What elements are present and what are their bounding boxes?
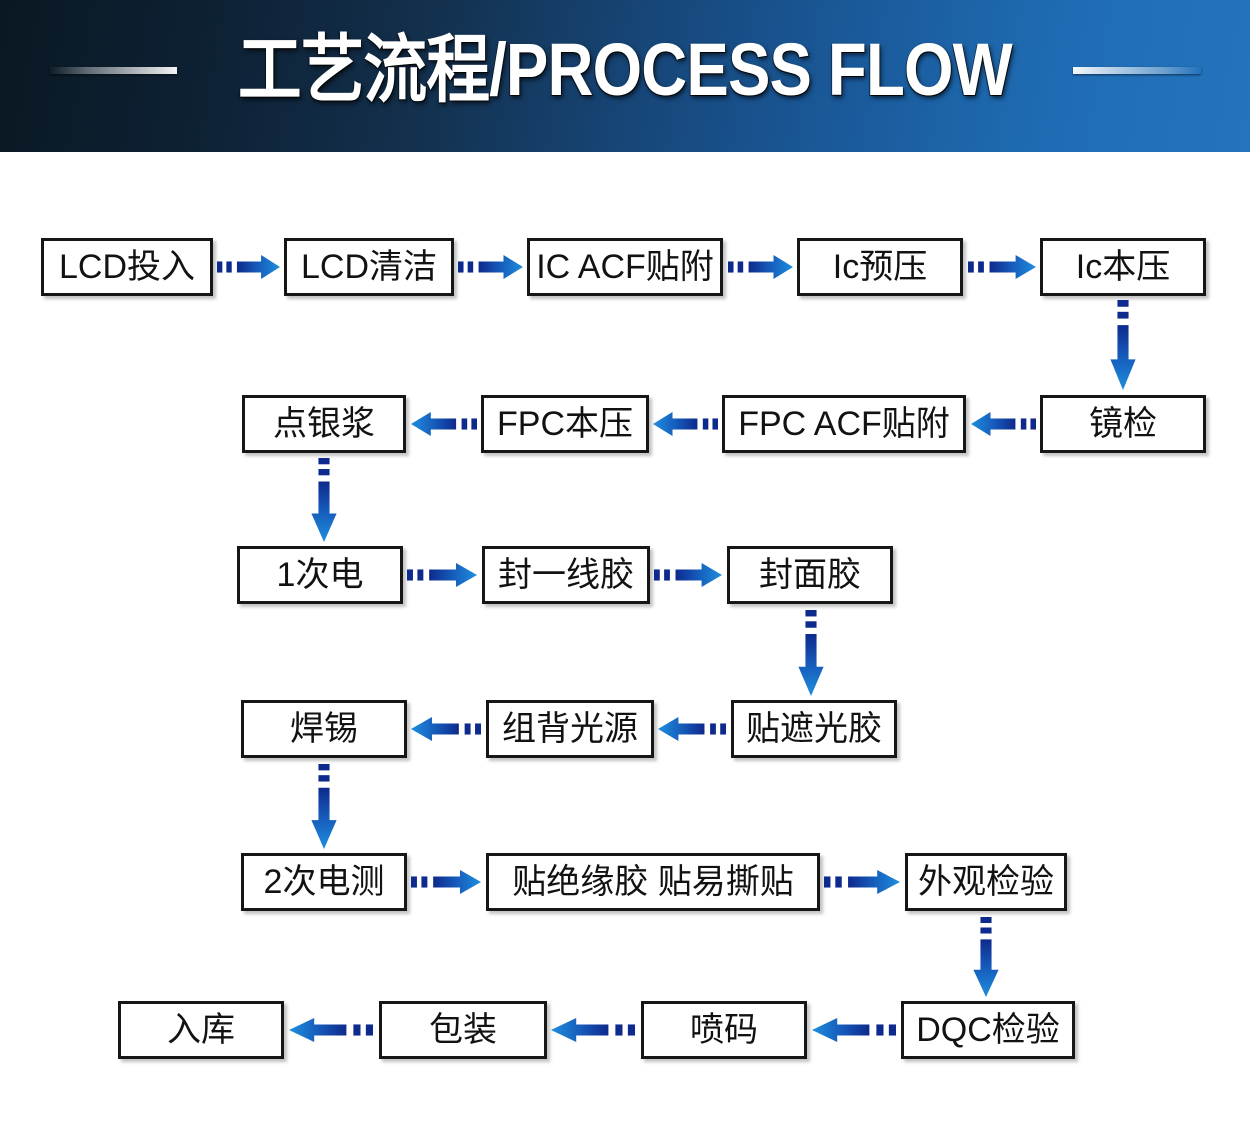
process-node-n2: LCD清洁 (284, 238, 454, 296)
flow-arrow-down-icon (309, 764, 339, 849)
process-node-label: 贴遮光胶 (740, 712, 888, 746)
process-node-label: 入库 (161, 1013, 241, 1047)
process-node-n1: LCD投入 (41, 238, 213, 296)
process-node-n17: 贴绝缘胶 贴易撕贴 (486, 853, 820, 911)
flow-arrow-right-icon (654, 560, 722, 590)
process-node-label: LCD清洁 (295, 250, 443, 284)
process-node-label: 2次电测 (258, 865, 391, 899)
process-node-n8: FPC ACF贴附 (722, 395, 966, 453)
header-inner: 工艺流程/PROCESS FLOW (0, 33, 1250, 107)
flow-arrow-right-icon (458, 252, 523, 282)
decorative-line-left-icon (49, 67, 177, 74)
process-node-label: LCD投入 (53, 250, 201, 284)
process-node-label: 封面胶 (753, 558, 867, 592)
process-node-n22: DQC检验 (901, 1001, 1075, 1059)
flow-arrow-down-icon (796, 610, 826, 696)
process-node-label: 点银浆 (267, 407, 381, 441)
process-node-n21: 喷码 (641, 1001, 807, 1059)
flow-arrow-down-icon (1108, 300, 1138, 390)
flow-arrow-right-icon (728, 252, 793, 282)
process-node-n19: 入库 (118, 1001, 284, 1059)
flow-arrow-right-icon (217, 252, 280, 282)
process-node-n3: IC ACF贴附 (527, 238, 723, 296)
flow-arrow-down-icon (309, 458, 339, 542)
process-node-n11: 封一线胶 (482, 546, 650, 604)
process-node-n20: 包装 (379, 1001, 547, 1059)
flow-arrow-right-icon (407, 560, 477, 590)
process-node-label: FPC本压 (491, 407, 639, 441)
page-title: 工艺流程/PROCESS FLOW (235, 33, 1016, 107)
process-node-label: 镜检 (1083, 407, 1163, 441)
flow-arrow-down-icon (971, 917, 1001, 997)
process-node-n7: FPC本压 (481, 395, 649, 453)
flow-arrow-left-icon (653, 409, 718, 439)
flow-arrow-left-icon (289, 1015, 373, 1045)
process-node-n16: 2次电测 (241, 853, 407, 911)
process-node-label: 焊锡 (284, 712, 364, 746)
header-banner: 工艺流程/PROCESS FLOW (0, 0, 1250, 152)
flow-arrow-left-icon (411, 714, 481, 744)
flow-arrow-right-icon (968, 252, 1036, 282)
process-node-n5: Ic本压 (1040, 238, 1206, 296)
process-node-label: 封一线胶 (492, 558, 640, 592)
flow-arrow-right-icon (411, 867, 481, 897)
process-node-n10: 1次电 (237, 546, 403, 604)
process-node-label: 喷码 (684, 1013, 764, 1047)
process-node-label: Ic预压 (827, 250, 933, 284)
process-node-label: 包装 (423, 1013, 503, 1047)
process-node-label: 贴绝缘胶 贴易撕贴 (506, 865, 799, 899)
process-node-n9: 镜检 (1040, 395, 1206, 453)
process-node-label: DQC检验 (910, 1013, 1066, 1047)
flow-arrow-left-icon (658, 714, 726, 744)
flow-arrow-left-icon (971, 409, 1036, 439)
process-node-n4: Ic预压 (797, 238, 963, 296)
process-node-label: 1次电 (271, 558, 370, 592)
process-node-n15: 贴遮光胶 (731, 700, 897, 758)
process-node-n18: 外观检验 (905, 853, 1067, 911)
flow-arrow-left-icon (812, 1015, 896, 1045)
process-node-label: IC ACF贴附 (530, 250, 720, 284)
flow-arrow-left-icon (411, 409, 477, 439)
process-node-n6: 点银浆 (242, 395, 406, 453)
process-node-n12: 封面胶 (727, 546, 893, 604)
flow-arrow-right-icon (824, 867, 900, 897)
process-node-label: 组背光源 (496, 712, 644, 746)
process-node-label: 外观检验 (912, 865, 1060, 899)
process-node-n13: 焊锡 (241, 700, 407, 758)
process-node-n14: 组背光源 (486, 700, 654, 758)
decorative-line-right-icon (1073, 67, 1201, 74)
process-node-label: Ic本压 (1070, 250, 1176, 284)
flow-arrow-left-icon (551, 1015, 635, 1045)
process-flow-diagram: LCD投入LCD清洁IC ACF贴附Ic预压Ic本压点银浆FPC本压FPC AC… (0, 152, 1250, 1127)
process-node-label: FPC ACF贴附 (732, 407, 956, 441)
